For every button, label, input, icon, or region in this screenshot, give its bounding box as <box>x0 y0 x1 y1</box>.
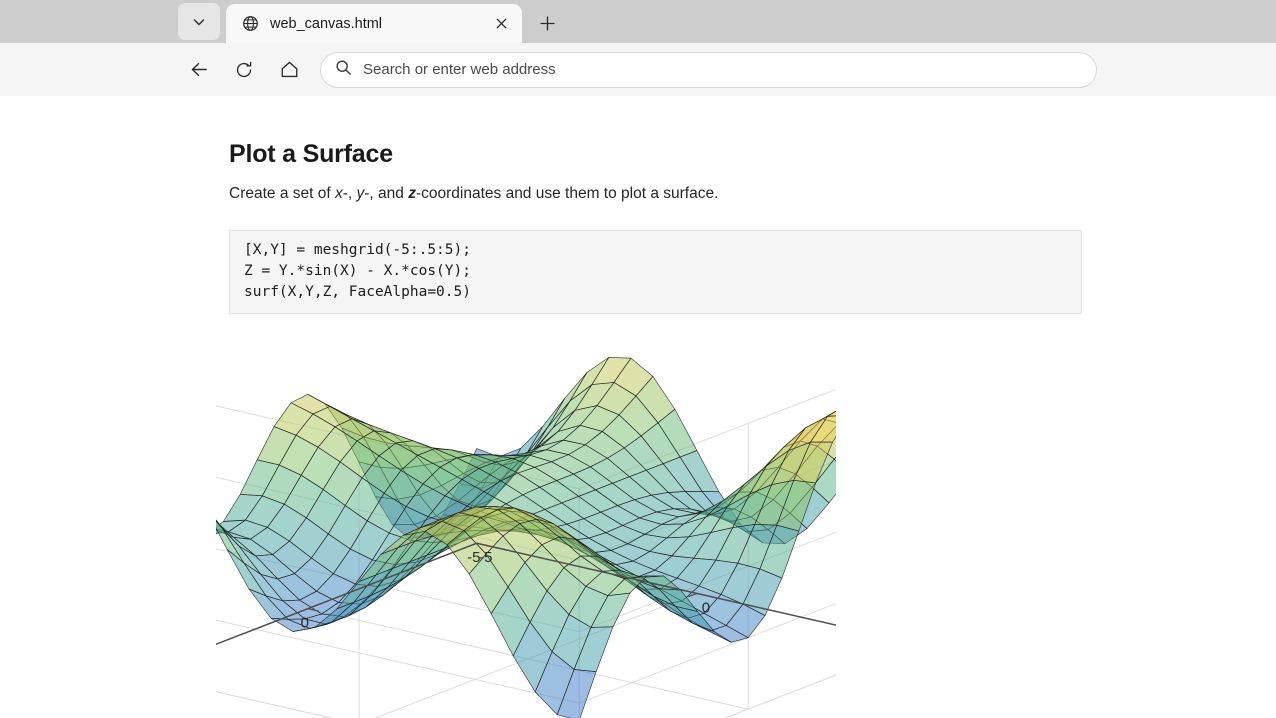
x-tick-label: -5 <box>479 549 492 566</box>
browser-window: web_canvas.html <box>0 0 1276 718</box>
page-title: Plot a Surface <box>229 140 1048 169</box>
reload-icon[interactable] <box>227 53 261 87</box>
tab-title: web_canvas.html <box>270 16 488 32</box>
page-content: Plot a Surface Create a set of x-, y-, a… <box>180 96 1094 718</box>
surface-plot-figure: -10-5051050-5-50 <box>216 348 1048 718</box>
surface-mesh <box>216 357 836 718</box>
desc-part-5: z <box>408 185 416 202</box>
surface-plot-svg: -10-5051050-5-50 <box>216 348 836 718</box>
y-tick-label: 0 <box>301 615 309 632</box>
desc-part-0: Create a set of <box>229 185 335 202</box>
chevron-down-icon[interactable] <box>178 3 220 40</box>
browser-tab[interactable]: web_canvas.html <box>226 4 522 43</box>
code-text: [X,Y] = meshgrid(-5:.5:5); Z = Y.*sin(X)… <box>244 240 1067 303</box>
search-icon <box>335 59 352 81</box>
desc-part-1: x <box>335 185 343 202</box>
close-icon[interactable] <box>488 11 514 37</box>
search-input[interactable]: Search or enter web address <box>320 52 1097 88</box>
desc-part-6: -coordinates and use them to plot a surf… <box>416 185 718 202</box>
x-tick-label: 0 <box>702 599 710 616</box>
globe-icon <box>240 14 260 34</box>
home-icon[interactable] <box>272 53 306 87</box>
page-description: Create a set of x-, y-, and z-coordinate… <box>229 185 1048 203</box>
plus-icon[interactable] <box>530 6 564 40</box>
desc-part-2: -, <box>343 185 357 202</box>
desc-part-4: -, and <box>364 185 408 202</box>
code-block: [X,Y] = meshgrid(-5:.5:5); Z = Y.*sin(X)… <box>229 230 1082 314</box>
tab-strip: web_canvas.html <box>0 0 1276 43</box>
browser-toolbar: Search or enter web address <box>0 43 1276 96</box>
address-placeholder: Search or enter web address <box>363 61 556 78</box>
back-arrow-icon[interactable] <box>182 53 216 87</box>
